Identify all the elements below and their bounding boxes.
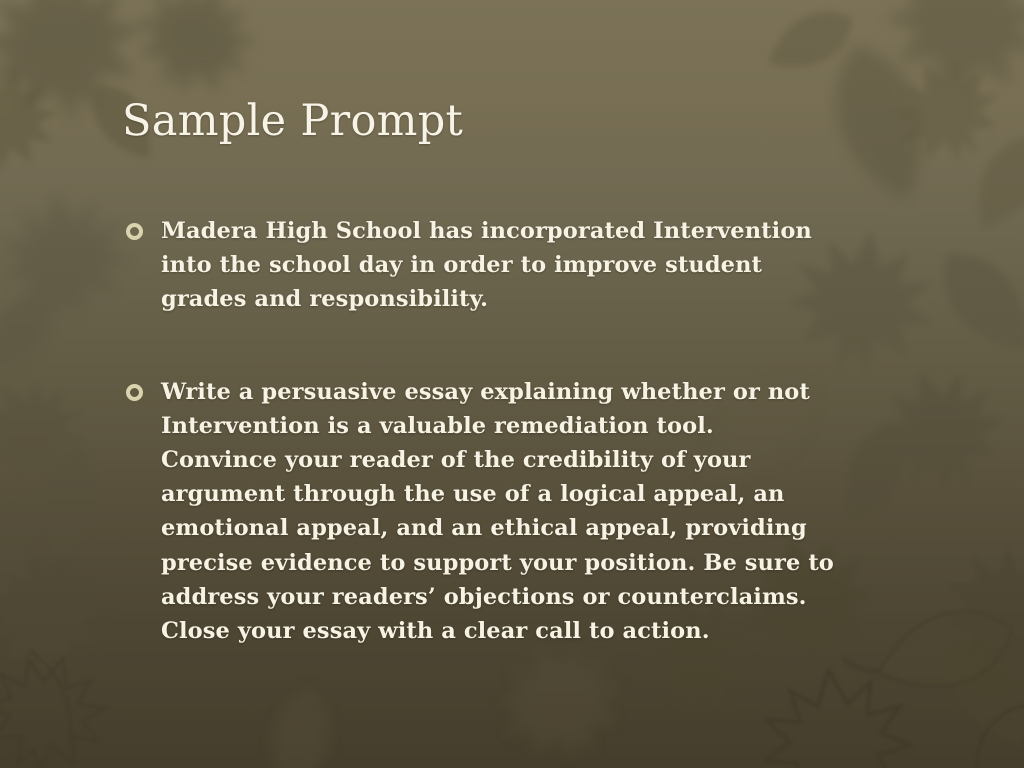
bullet-text-1: Madera High School has incorporated Inte… — [161, 214, 916, 317]
list-item: Write a persuasive essay explaining whet… — [126, 375, 916, 649]
bullet-line: grades and responsibility. — [161, 282, 916, 316]
bullet-line: Write a persuasive essay explaining whet… — [161, 375, 916, 409]
bullet-line: Convince your reader of the credibility … — [161, 443, 916, 477]
bullet-line: Madera High School has incorporated Inte… — [161, 214, 916, 248]
bullet-text-2: Write a persuasive essay explaining whet… — [161, 375, 916, 649]
bullet-line: address your readers’ objections or coun… — [161, 580, 916, 614]
list-item: Madera High School has incorporated Inte… — [126, 214, 916, 317]
bullet-line: into the school day in order to improve … — [161, 248, 916, 282]
bullet-line: precise evidence to support your positio… — [161, 546, 916, 580]
bullet-line: emotional appeal, and an ethical appeal,… — [161, 511, 916, 545]
ring-bullet-icon — [126, 384, 143, 401]
bullet-line: Intervention is a valuable remediation t… — [161, 409, 916, 443]
slide-body: Madera High School has incorporated Inte… — [126, 214, 916, 648]
page-title: Sample Prompt — [122, 98, 463, 145]
bullet-line: Close your essay with a clear call to ac… — [161, 614, 916, 648]
ring-bullet-icon — [126, 223, 143, 240]
bullet-line: argument through the use of a logical ap… — [161, 477, 916, 511]
presentation-slide: Sample Prompt Madera High School has inc… — [0, 0, 1024, 768]
